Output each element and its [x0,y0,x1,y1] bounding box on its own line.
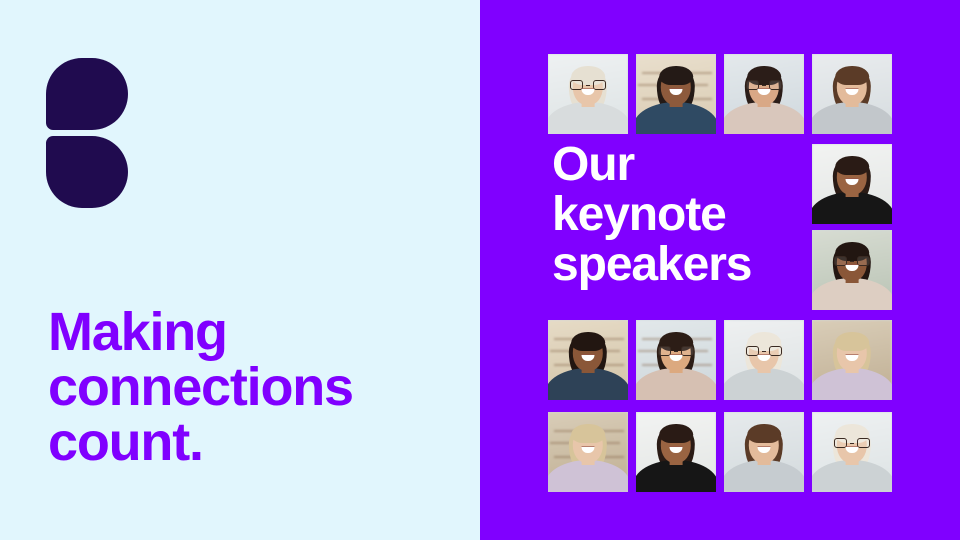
speaker-photo-image [724,412,804,492]
speaker-photo [548,320,628,400]
speaker-photo [812,412,892,492]
left-panel: Making connections count. [0,0,480,540]
speaker-photo [812,320,892,400]
speaker-photo [636,320,716,400]
logo-shape-bottom [46,136,128,208]
speaker-photo [812,144,892,224]
speaker-photo-image [812,320,892,400]
section-heading-word: Our [552,140,822,190]
speaker-photo-image [724,54,804,134]
speaker-photo-image [724,320,804,400]
speaker-photo-image [812,144,892,224]
speaker-photo-image [812,230,892,310]
presentation-slide: Making connections count. Ourkeynotespea… [0,0,960,540]
speaker-photo [724,412,804,492]
speaker-photo [812,54,892,134]
section-heading-word: speakers [552,240,822,290]
section-heading-word: keynote [552,190,822,240]
speaker-photo [548,54,628,134]
speaker-photo-image [812,54,892,134]
page-title: Making connections count. [48,305,448,470]
speaker-photo-image [636,412,716,492]
speaker-photo-image [636,320,716,400]
right-panel: Ourkeynotespeakers [480,0,960,540]
speaker-photo [724,54,804,134]
speaker-photo-image [548,412,628,492]
speaker-photo-image [812,412,892,492]
speaker-photo-image [636,54,716,134]
speaker-photo [724,320,804,400]
logo-shape-top [46,58,128,130]
speaker-photo [636,54,716,134]
speaker-photo [636,412,716,492]
speaker-photo-image [548,54,628,134]
speaker-photo [548,412,628,492]
section-heading: Ourkeynotespeakers [552,140,822,290]
speaker-photo-image [548,320,628,400]
speaker-photo [812,230,892,310]
brand-logo-icon [46,58,128,208]
